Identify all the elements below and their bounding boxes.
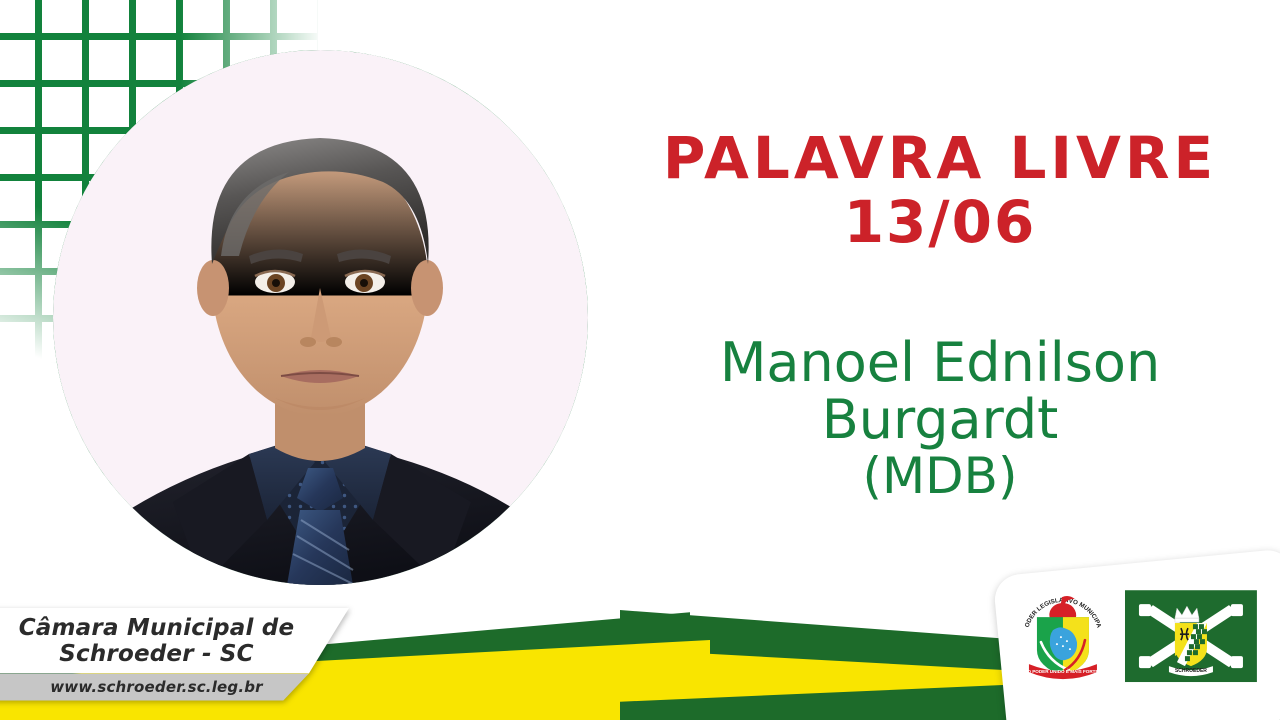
- uvb-ribbon-text: O PODER UNIDO É MAIS FORTE: [1027, 667, 1098, 674]
- schroeder-flag-icon: SCHROEDER: [1125, 590, 1257, 682]
- plate-bottom: www.schroeder.sc.leg.br: [0, 674, 349, 701]
- headline: PALAVRA LIVRE 13/06: [620, 128, 1260, 253]
- portrait-illustration: [53, 50, 588, 585]
- speaker-block: Manoel Ednilson Burgardt (MDB): [600, 334, 1280, 503]
- plate-top: Câmara Municipal de Schroeder - SC: [0, 608, 349, 674]
- speaker-name: Manoel Ednilson Burgardt: [720, 331, 1160, 451]
- slide-canvas: PALAVRA LIVRE 13/06 Manoel Ednilson Burg…: [0, 0, 1280, 720]
- portrait-clip: [53, 50, 588, 585]
- plate-line-1: Câmara Municipal de: [10, 616, 303, 642]
- speaker-party: (MDB): [600, 450, 1280, 503]
- plate-website-url: www.schroeder.sc.leg.br: [10, 678, 303, 696]
- flag-caption: SCHROEDER: [1175, 668, 1207, 674]
- logo-row: PODER LEGISLATIVO MUNICIPAL: [1017, 584, 1279, 688]
- plate-line-2: Schroeder - SC: [10, 642, 303, 668]
- speaker-portrait: [53, 50, 588, 585]
- headline-title: PALAVRA LIVRE: [663, 124, 1217, 192]
- institution-plate: Câmara Municipal de Schroeder - SC www.s…: [0, 608, 349, 701]
- logo-card: PODER LEGISLATIVO MUNICIPAL: [993, 548, 1280, 720]
- headline-date: 13/06: [620, 192, 1260, 252]
- poder-legislativo-municipal-icon: PODER LEGISLATIVO MUNICIPAL: [1017, 584, 1109, 688]
